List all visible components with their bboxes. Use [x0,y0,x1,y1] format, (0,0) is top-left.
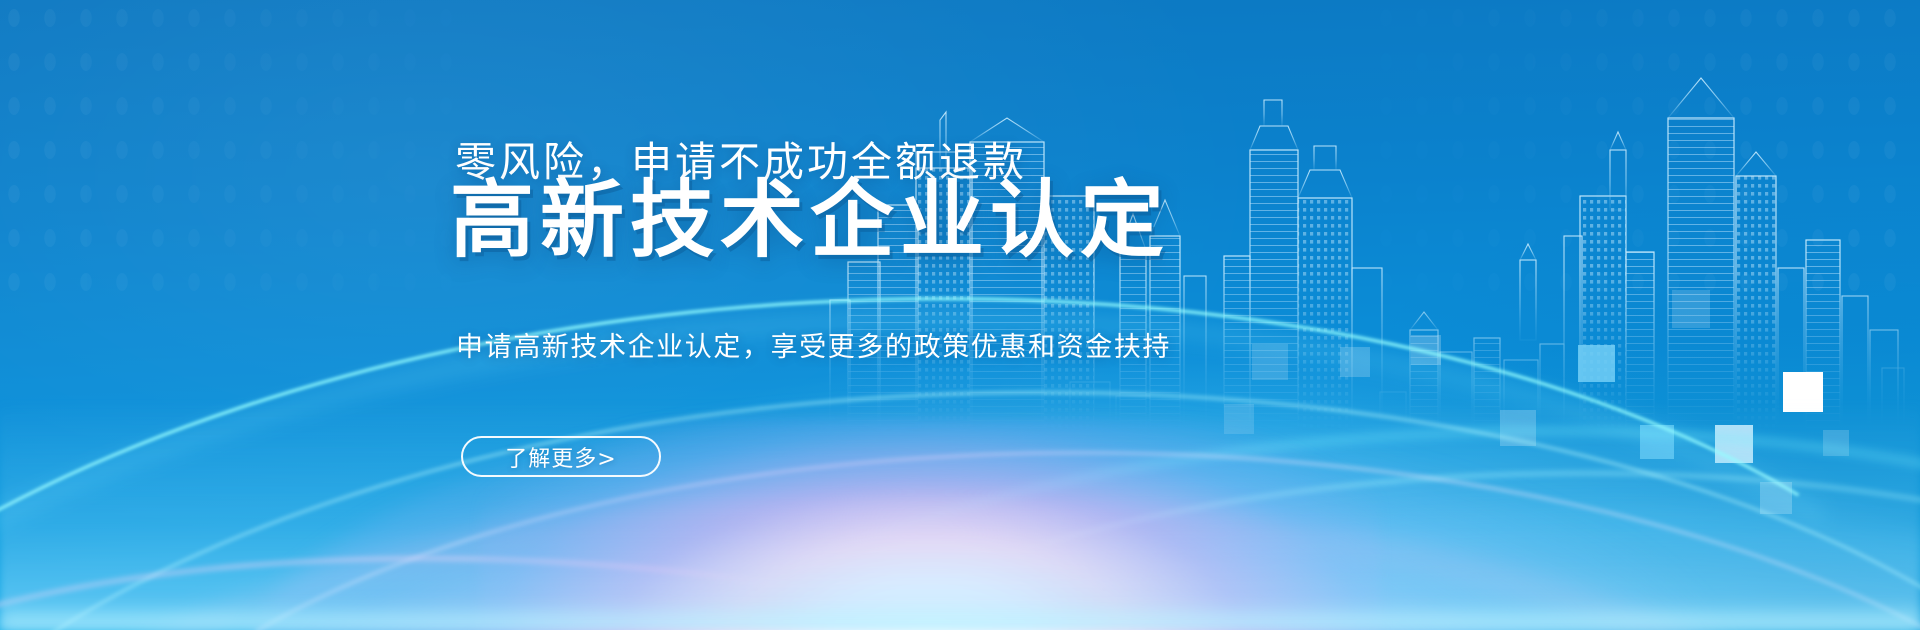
banner-subtitle: 申请高新技术企业认定，享受更多的政策优惠和资金扶持 [456,325,1171,364]
promo-banner: 零风险，申请不成功全额退款 高新技术企业认定 申请高新技术企业认定，享受更多的政… [0,0,1920,630]
banner-headline: 高新技术企业认定 [450,178,1170,264]
learn-more-button[interactable]: 了解更多> [461,436,661,477]
banner-content: 零风险，申请不成功全额退款 高新技术企业认定 申请高新技术企业认定，享受更多的政… [0,0,1920,630]
